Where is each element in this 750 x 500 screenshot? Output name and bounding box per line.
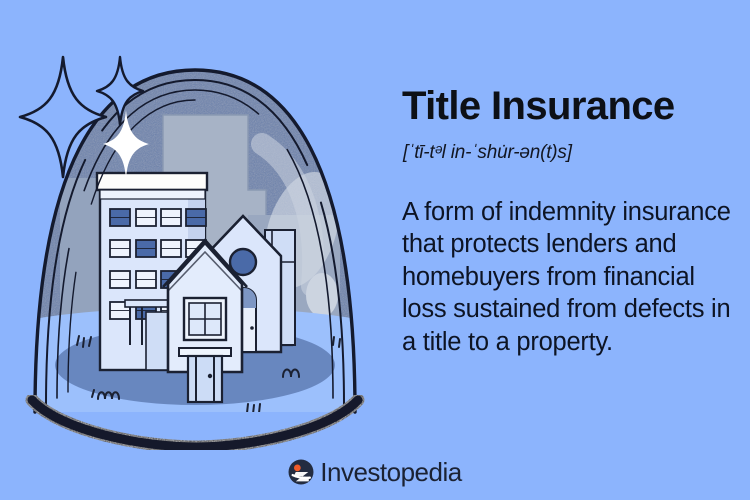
pronunciation: [ˈtī-tᵊl in-ˈshu̇r-ən(t)s] [403, 141, 572, 165]
page-title: Title Insurance [402, 84, 675, 128]
investopedia-wordmark: Investopedia [320, 459, 461, 485]
definition-card: Title Insurance [ˈtī-tᵊl in-ˈshu̇r-ən(t)… [0, 0, 750, 500]
definition-text-column: Title Insurance [ˈtī-tᵊl in-ˈshu̇r-ən(t)… [402, 0, 732, 450]
definition-text: A form of indemnity insurance that prote… [402, 196, 738, 358]
investopedia-logo[interactable]: Investopedia [0, 452, 750, 492]
investopedia-logo-icon [288, 459, 314, 485]
illustration-house-under-glass-dome [0, 0, 390, 450]
